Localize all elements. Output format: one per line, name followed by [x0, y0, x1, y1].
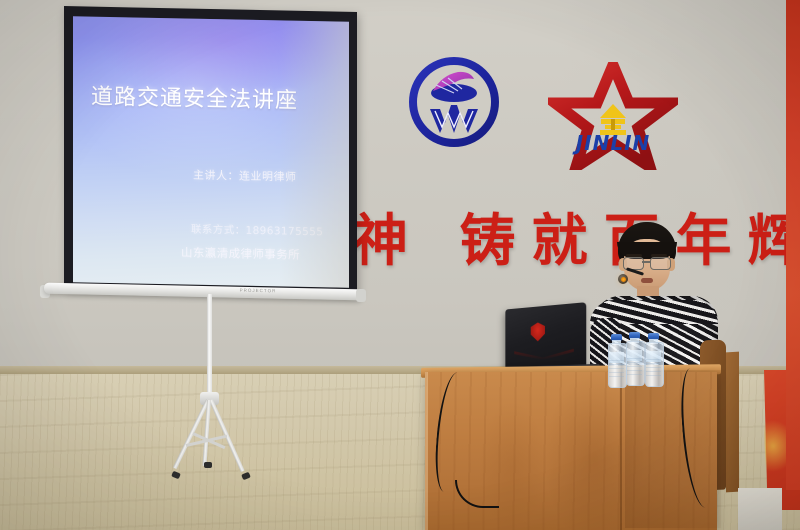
chair-post	[726, 352, 739, 493]
laptop-brand-icon	[531, 322, 545, 342]
podium-left-edge	[425, 372, 428, 530]
slide-presenter: 主讲人：连业明律师	[193, 167, 349, 186]
glasses-icon	[623, 257, 672, 268]
wall-calligraphy: 神 铸就百年辉	[352, 196, 800, 278]
roller-brand-label: PROJECTOR	[228, 287, 288, 294]
red-banner-strip	[786, 0, 800, 490]
slide-title: 道路交通安全法讲座	[91, 79, 331, 116]
tripod-pole	[207, 294, 212, 401]
glasses-lens-right	[650, 257, 671, 270]
water-bottle	[608, 334, 625, 386]
slide-firm: 山东瀛清成律师事务所	[181, 244, 349, 264]
mouth	[641, 278, 653, 283]
laptop-lid	[505, 302, 586, 373]
water-bottle	[645, 333, 662, 385]
bottle-ribs	[646, 359, 661, 377]
banner-pedestal	[738, 488, 782, 530]
jinlin-star-logo-icon: JINLIN	[548, 62, 678, 170]
laptop-lid-accent	[514, 349, 574, 361]
tripod-foot-center	[204, 462, 212, 468]
svg-text:JINLIN: JINLIN	[572, 131, 651, 155]
projection-screen: 道路交通安全法讲座 主讲人：连业明律师 联系方式：18963175555 山东瀛…	[64, 6, 357, 295]
roller-cap-right	[356, 289, 366, 302]
glasses-bridge	[642, 261, 650, 263]
w-circle-logo-icon	[408, 55, 500, 149]
lecture-room-photo: JINLIN 神 铸就百年辉 道路交通安全法讲座 主讲人：连业明律师 联系方式：…	[0, 0, 800, 530]
podium-corner-seam	[620, 372, 622, 530]
microphone-indicator-light	[621, 277, 626, 282]
slide-contact: 联系方式：18963175555	[191, 222, 349, 240]
bottle-ribs	[627, 358, 642, 376]
bottle-ribs	[609, 360, 624, 378]
slide-surface: 道路交通安全法讲座 主讲人：连业明律师 联系方式：18963175555 山东瀛…	[73, 16, 349, 288]
water-bottle	[626, 332, 643, 384]
